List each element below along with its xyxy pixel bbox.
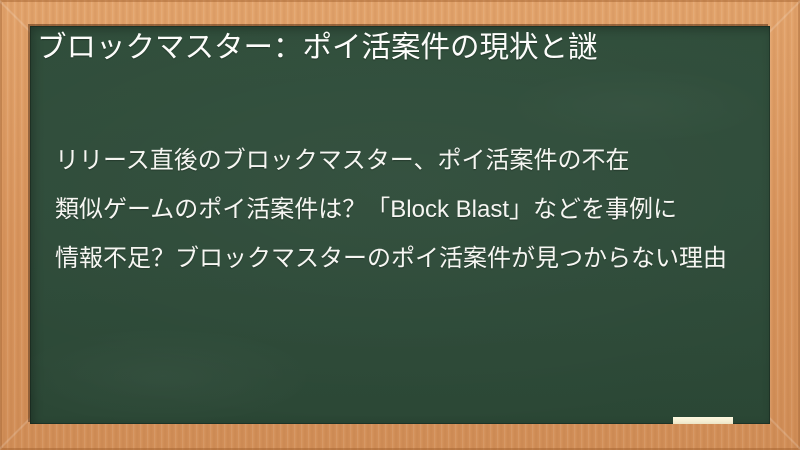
chalk-stick [673,417,733,424]
toc-item-2[interactable]: 類似ゲームのポイ活案件は？「Block Blast」などを事例に [37,193,753,226]
toc-item-1[interactable]: リリース直後のブロックマスター、ポイ活案件の不在 [37,144,753,177]
toc-item-3[interactable]: 情報不足？ブロックマスターのポイ活案件が見つからない理由 [37,242,753,275]
page-title: ブロックマスター：ポイ活案件の現状と謎 [37,27,753,68]
frame-miter-bottom-right [767,416,800,450]
frame-miter-bottom-left [0,416,33,450]
table-of-contents: リリース直後のブロックマスター、ポイ活案件の不在 類似ゲームのポイ活案件は？「B… [37,144,753,275]
chalkboard: ブロックマスター：ポイ活案件の現状と謎 リリース直後のブロックマスター、ポイ活案… [30,26,770,424]
wooden-frame: ブロックマスター：ポイ活案件の現状と謎 リリース直後のブロックマスター、ポイ活案… [0,0,800,450]
frame-miter-top-right [767,0,800,34]
frame-miter-top-left [0,0,33,34]
